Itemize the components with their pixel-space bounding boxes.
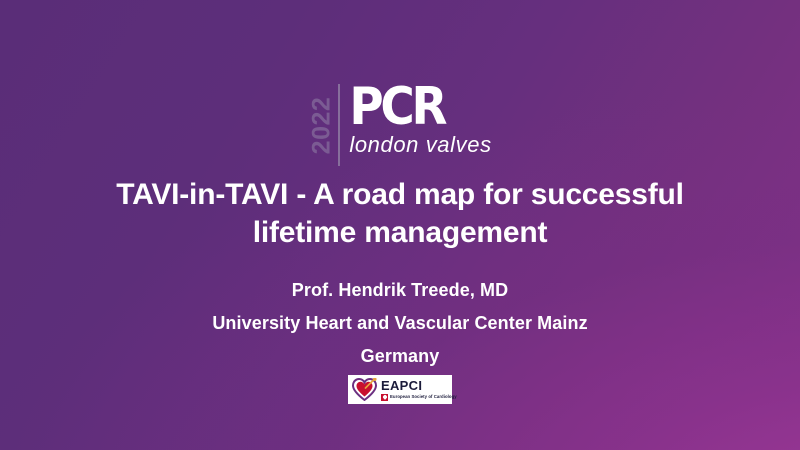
speaker-affiliation: University Heart and Vascular Center Mai… (40, 314, 760, 332)
eapci-tagline: European Society of Cardiology (390, 395, 457, 399)
logo-year-label: 2022 (309, 96, 334, 154)
logo-wordmark: PCR (349, 84, 491, 132)
presentation-title-slide: 2022 PCR london valves TAVI-in-TAVI - A … (0, 0, 800, 450)
eapci-logo: EAPCI European Society of Cardiology (0, 375, 800, 404)
pcr-london-valves-logo: 2022 PCR london valves (0, 84, 800, 166)
slide-title-line-1: TAVI-in-TAVI - A road map for successful (50, 176, 750, 214)
logo-divider (338, 84, 340, 166)
logo-subtitle: london valves (349, 133, 491, 157)
eapci-name: EAPCI (381, 379, 457, 392)
esc-shield-icon (381, 394, 388, 401)
heart-with-needle-icon (352, 378, 377, 401)
speaker-name: Prof. Hendrik Treede, MD (40, 281, 760, 299)
speaker-country: Germany (40, 347, 760, 365)
slide-title-line-2: lifetime management (50, 214, 750, 252)
slide-title: TAVI-in-TAVI - A road map for successful… (50, 176, 750, 253)
speaker-block: Prof. Hendrik Treede, MD University Hear… (40, 281, 760, 365)
logo-year: 2022 (308, 84, 334, 166)
